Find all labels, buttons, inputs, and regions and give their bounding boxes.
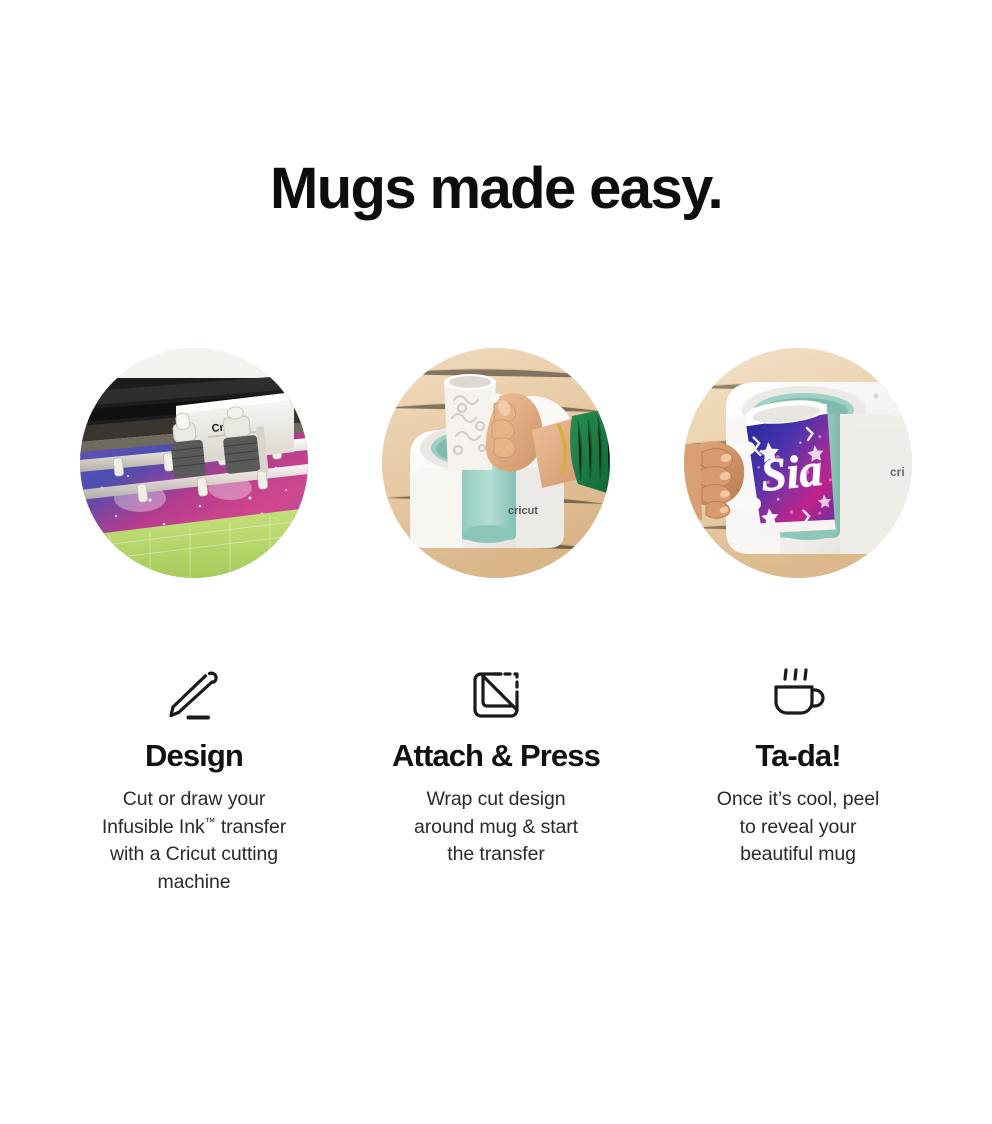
steaming-mug-icon xyxy=(769,666,827,724)
step-body-line: Once it’s cool, peel xyxy=(680,786,916,814)
step-column-attach-press: cricut xyxy=(380,348,612,896)
step-body-line: the transfer xyxy=(378,841,614,869)
step-title-attach-press: Attach & Press xyxy=(392,738,600,774)
step-title-tada: Ta-da! xyxy=(755,738,840,774)
step-body-line: machine xyxy=(76,869,312,897)
step-icon-design xyxy=(164,656,224,734)
step-body-line: Cut or draw your xyxy=(76,786,312,814)
step-body-line: to reveal your xyxy=(680,814,916,842)
step-icon-tada xyxy=(769,656,827,734)
step-icon-attach-press xyxy=(467,656,525,734)
cricut-logo-text: cricut xyxy=(508,505,538,517)
infographic-page: Mugs made easy. xyxy=(0,0,992,1124)
step-column-design: Cricut xyxy=(78,348,310,896)
step-body-design: Cut or draw your Infusible Ink™ transfer… xyxy=(76,786,312,896)
step-body-tada: Once it’s cool, peel to reveal your beau… xyxy=(680,786,916,869)
page-title: Mugs made easy. xyxy=(0,158,992,220)
cricut-logo-text: cri xyxy=(890,465,905,479)
transfer-sheet-peel-icon xyxy=(467,666,525,724)
step-body-line: Wrap cut design xyxy=(378,786,614,814)
finished-mug-illustration: cri Sia xyxy=(684,348,912,578)
step-body-line: beautiful mug xyxy=(680,841,916,869)
step-body-line: Infusible Ink™ transfer xyxy=(76,814,312,842)
mug-press-loading-illustration: cricut xyxy=(382,348,610,578)
steps-row: Cricut xyxy=(0,348,992,896)
step-body-line-text: Infusible Ink™ transfer xyxy=(102,816,286,838)
step-body-line: around mug & start xyxy=(378,814,614,842)
step-body-attach-press: Wrap cut design around mug & start the t… xyxy=(378,786,614,869)
step-column-tada: cri Sia xyxy=(682,348,914,896)
step-title-design: Design xyxy=(145,738,243,774)
finished-mug-photo: cri Sia xyxy=(684,348,912,578)
step-body-line: with a Cricut cutting xyxy=(76,841,312,869)
headline-container: Mugs made easy. xyxy=(0,158,992,220)
cricut-cutting-machine-photo: Cricut xyxy=(80,348,308,578)
cutting-machine-illustration: Cricut xyxy=(80,348,308,578)
mug-press-loading-photo: cricut xyxy=(382,348,610,578)
pencil-draw-icon xyxy=(164,666,224,724)
